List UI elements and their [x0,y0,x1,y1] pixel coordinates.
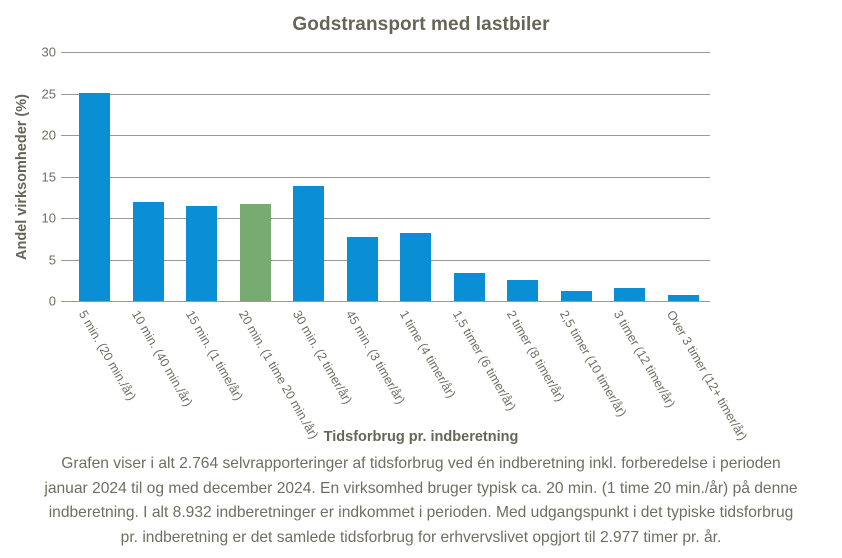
chart-caption: Grafen viser i alt 2.764 selvrapporterin… [38,452,804,550]
bar[interactable] [614,288,645,301]
gridline [68,52,710,53]
x-tick-label: 2 timer (8 timer/år) [504,308,568,404]
y-tick-mark [61,177,68,178]
x-tick-label: 1 time (4 timer/år) [397,308,458,400]
y-tick-label: 20 [42,128,56,143]
bar[interactable] [507,280,538,301]
x-tick-label: 30 min. (2 timer/år) [290,308,355,406]
x-tick-label: 45 min. (3 timer/år) [343,308,408,406]
gridline [68,218,710,219]
x-axis-title: Tidsforbrug pr. indberetning [0,429,842,445]
gridline [68,135,710,136]
bar[interactable] [347,237,378,301]
bar[interactable] [561,291,592,301]
bar[interactable] [133,202,164,301]
bar[interactable] [293,186,324,301]
x-tick-labels: 5 min. (20 min./år)10 min. (40 min./år)1… [68,303,710,423]
bar[interactable] [400,233,431,301]
bar[interactable] [79,93,110,301]
y-tick-label: 15 [42,169,56,184]
bar[interactable] [240,204,271,301]
chart-figure: Godstransport med lastbiler Andel virkso… [0,0,842,558]
y-tick-label: 25 [42,86,56,101]
x-tick-label: 10 min. (40 min./år) [129,308,195,409]
bar[interactable] [668,295,699,301]
x-axis-baseline [68,301,710,302]
x-tick-label: 3 timer (12 timer/år) [611,308,678,410]
y-tick-mark [61,52,68,53]
x-tick-label: 5 min. (20 min./år) [76,308,139,403]
y-tick-label: 10 [42,211,56,226]
y-tick-mark [61,135,68,136]
gridline [68,260,710,261]
y-axis-title: Andel virksomheder (%) [14,94,30,260]
y-tick-mark [61,218,68,219]
y-tick-label: 0 [49,294,56,309]
bar[interactable] [186,206,217,301]
y-tick-mark [61,301,68,302]
x-tick-label: 15 min. (1 time/år) [183,308,246,403]
gridline [68,177,710,178]
y-tick-mark [61,94,68,95]
chart-title: Godstransport med lastbiler [0,14,842,36]
bar[interactable] [454,273,485,301]
y-tick-label: 30 [42,45,56,60]
y-tick-label: 5 [49,252,56,267]
gridline [68,94,710,95]
plot-area: Andel virksomheder (%) 051015202530 [68,52,710,301]
x-tick-label: Over 3 timer (12+ timer/år) [664,308,750,443]
y-tick-mark [61,260,68,261]
